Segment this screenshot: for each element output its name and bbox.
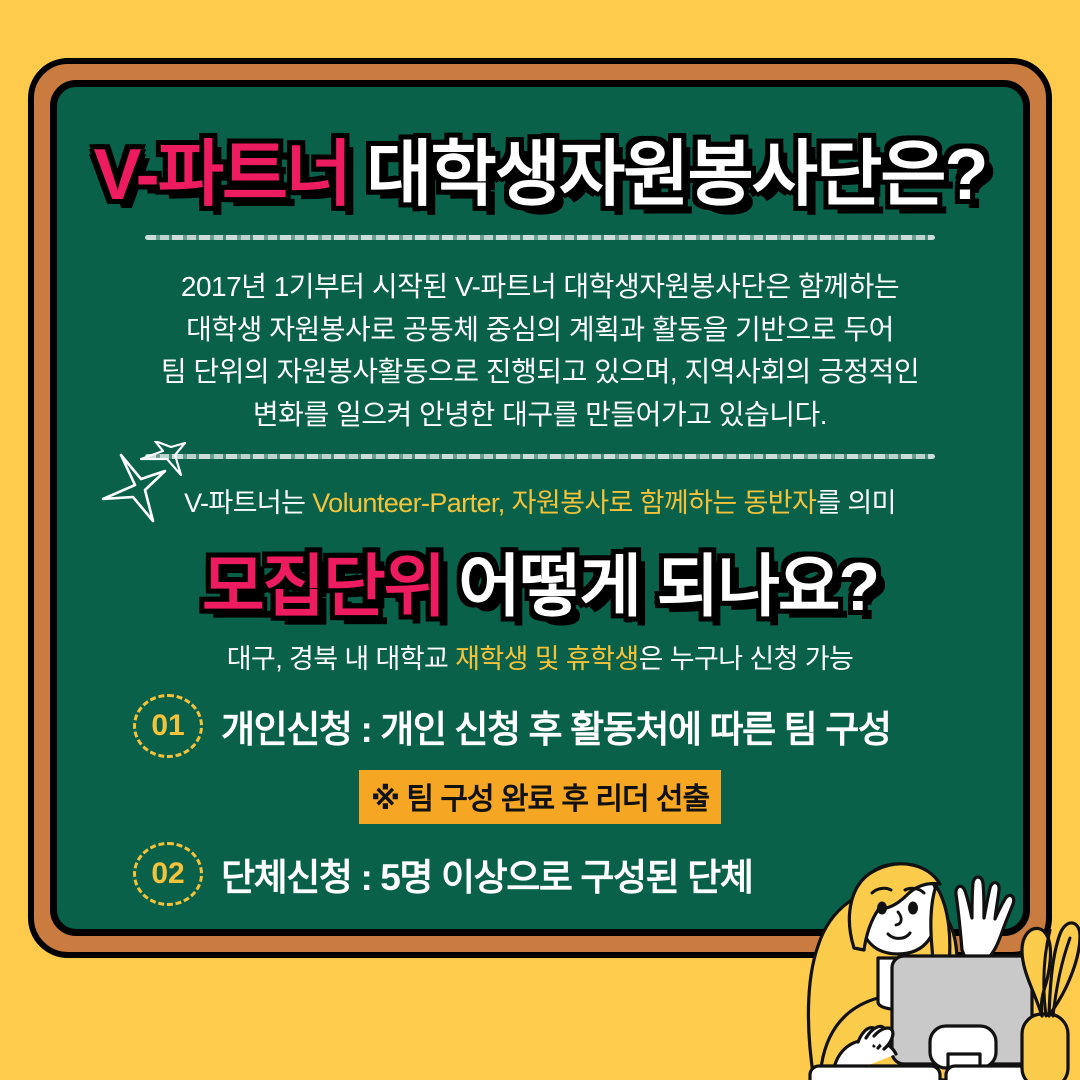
intro-line-2: 대학생 자원봉사로 공동체 중심의 계획과 활동을 기반으로 두어: [115, 309, 965, 352]
chalkboard-surface: V-파트너대학생자원봉사단은? 2017년 1기부터 시작된 V-파트너 대학생…: [50, 80, 1030, 936]
eligibility-highlight: 재학생 및 휴학생: [455, 644, 638, 674]
intro-line-4: 변화를 일으켜 안녕한 대구를 만들어가고 있습니다.: [115, 394, 965, 437]
eligibility-suffix: 은 누구나 신청 가능: [639, 644, 854, 674]
item-number-badge: 02: [133, 842, 203, 906]
item-label: 개인신청 : 개인 신청 후 활동처에 따른 팀 구성: [221, 699, 890, 753]
page-title: V-파트너대학생자원봉사단은?: [57, 139, 1023, 211]
intro-line-3: 팀 단위의 자원봉사활동으로 진행되고 있으며, 지역사회의 긍정적인: [115, 351, 965, 394]
meaning-row: V-파트너는 Volunteer-Parter, 자원봉사로 함께하는 동반자를…: [57, 475, 1023, 531]
eligibility-prefix: 대구, 경북 내 대학교: [227, 644, 455, 674]
list-item: 01 개인신청 : 개인 신청 후 활동처에 따른 팀 구성: [57, 694, 1023, 758]
section-title-rest: 어떻게 되나요?: [458, 553, 878, 621]
meaning-prefix: V-파트너는: [184, 488, 312, 518]
section-title-recruitment: 모집단위어떻게 되나요?: [57, 553, 1023, 621]
meaning-line: V-파트너는 Volunteer-Parter, 자원봉사로 함께하는 동반자를…: [57, 475, 1023, 531]
chalk-divider-top: [145, 235, 935, 240]
status-badge-note: ※ 팀 구성 완료 후 리더 선출: [359, 770, 721, 824]
intro-paragraph: 2017년 1기부터 시작된 V-파트너 대학생자원봉사단은 함께하는 대학생 …: [115, 266, 965, 436]
meaning-highlight: Volunteer-Parter, 자원봉사로 함께하는 동반자: [312, 488, 816, 518]
sparkle-stars-icon: [95, 441, 191, 527]
page-title-brand: V-파트너: [94, 139, 351, 211]
eligibility-line: 대구, 경북 내 대학교 재학생 및 휴학생은 누구나 신청 가능: [57, 637, 1023, 676]
intro-line-1: 2017년 1기부터 시작된 V-파트너 대학생자원봉사단은 함께하는: [115, 266, 965, 309]
chalk-divider-middle: [145, 454, 935, 459]
page-title-rest: 대학생자원봉사단은?: [366, 139, 986, 211]
chalkboard: V-파트너대학생자원봉사단은? 2017년 1기부터 시작된 V-파트너 대학생…: [28, 58, 1052, 958]
note-row: ※ 팀 구성 완료 후 리더 선출: [57, 770, 1023, 824]
section-title-keyword: 모집단위: [202, 553, 444, 621]
item-number-badge: 01: [133, 694, 203, 758]
list-item: 02 단체신청 : 5명 이상으로 구성된 단체: [57, 842, 1023, 906]
item-label: 단체신청 : 5명 이상으로 구성된 단체: [221, 847, 752, 901]
meaning-suffix: 를 의미: [816, 488, 896, 518]
